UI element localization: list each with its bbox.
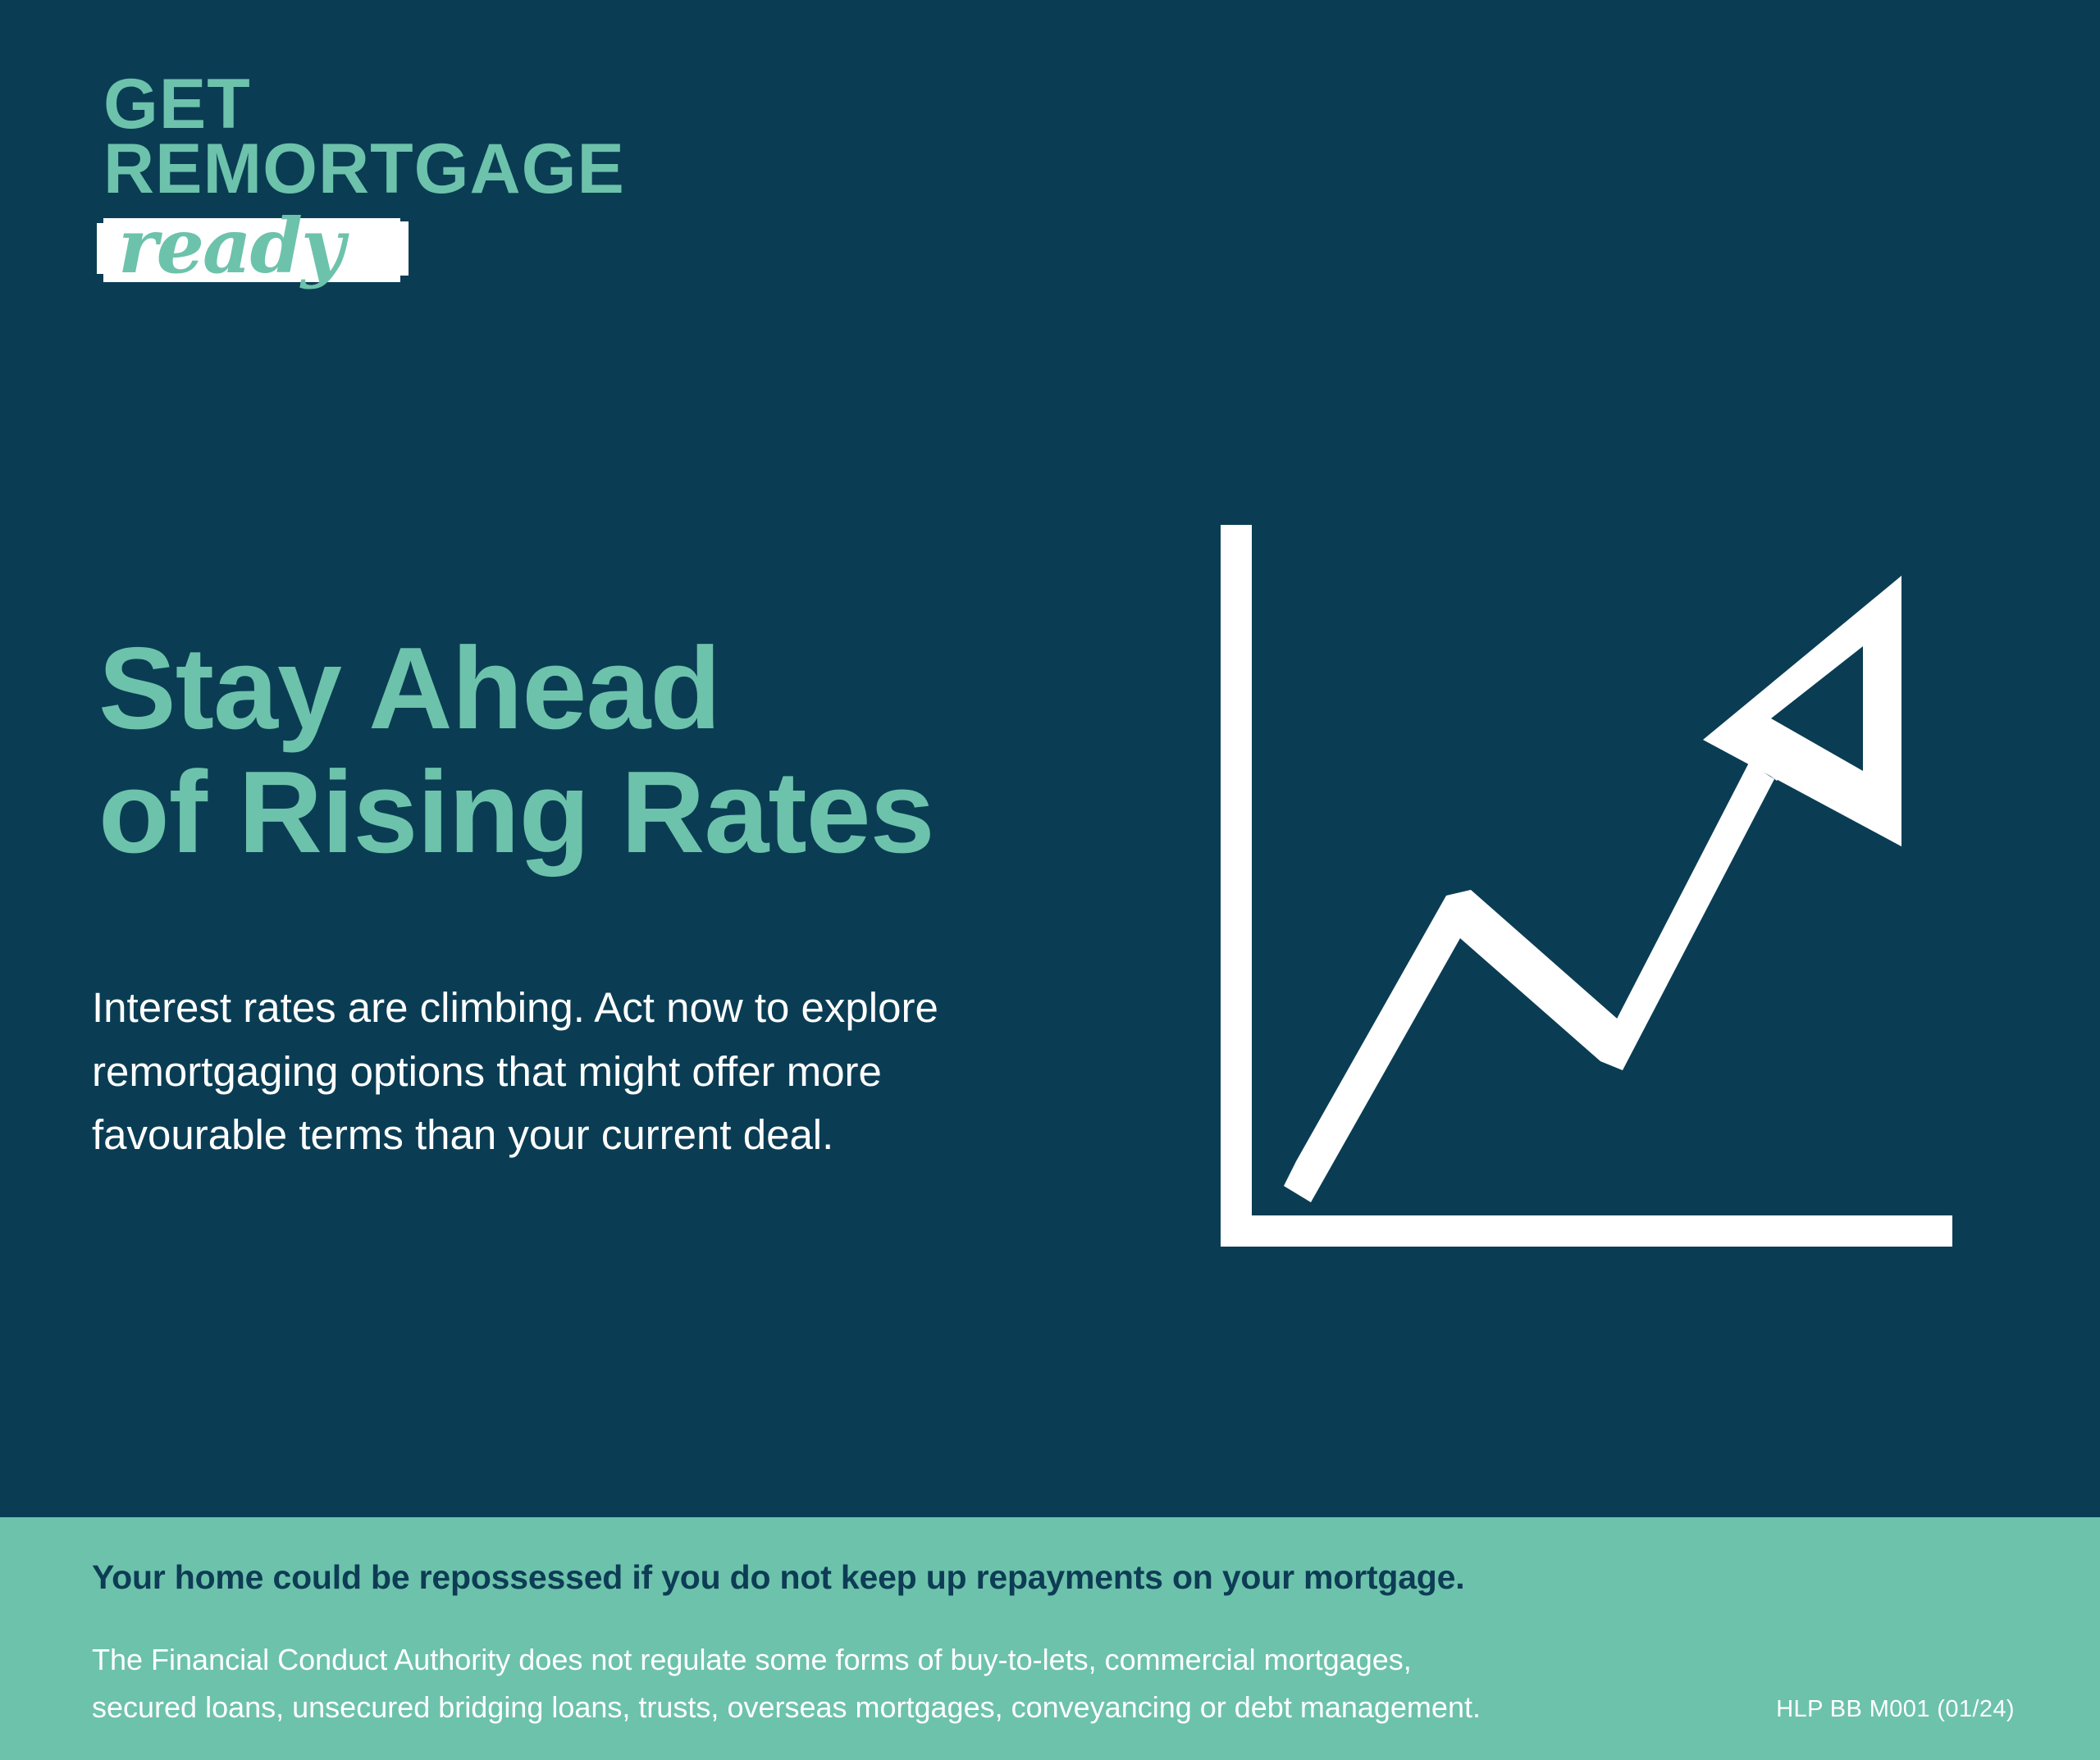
rising-line-chart-arrow-icon (1214, 525, 1952, 1247)
body-copy-line-2: remortgaging options that might offer mo… (92, 1040, 994, 1104)
body-copy-line-3: favourable terms than your current deal. (92, 1103, 994, 1167)
page-title: Stay Ahead of Rising Rates (98, 627, 1157, 874)
footer-compliance-band: Your home could be repossessed if you do… (0, 1517, 2100, 1760)
logo-script-ready: ready (118, 208, 343, 284)
disclaimer-line-2: secured loans, unsecured bridging loans,… (92, 1684, 1568, 1731)
logo-line-remortgage: REMORTGAGE (103, 137, 694, 202)
disclaimer-line-1: The Financial Conduct Authority does not… (92, 1636, 1568, 1684)
remortgage-promo-banner: GET REMORTGAGE ready Stay Ahead of Risin… (0, 0, 2100, 1760)
brand-logo: GET REMORTGAGE ready (103, 72, 694, 292)
logo-script-container: ready (103, 207, 407, 292)
body-copy-line-1: Interest rates are climbing. Act now to … (92, 976, 994, 1040)
headline-line-1: Stay Ahead (98, 627, 1157, 751)
footer-warning-text: Your home could be repossessed if you do… (92, 1558, 1464, 1597)
footer-reference-code: HLP BB M001 (01/24) (1776, 1696, 2015, 1723)
logo-line-get: GET (103, 72, 694, 137)
headline-line-2: of Rising Rates (98, 751, 1157, 875)
footer-disclaimer-text: The Financial Conduct Authority does not… (92, 1636, 1568, 1732)
body-copy: Interest rates are climbing. Act now to … (92, 976, 994, 1167)
